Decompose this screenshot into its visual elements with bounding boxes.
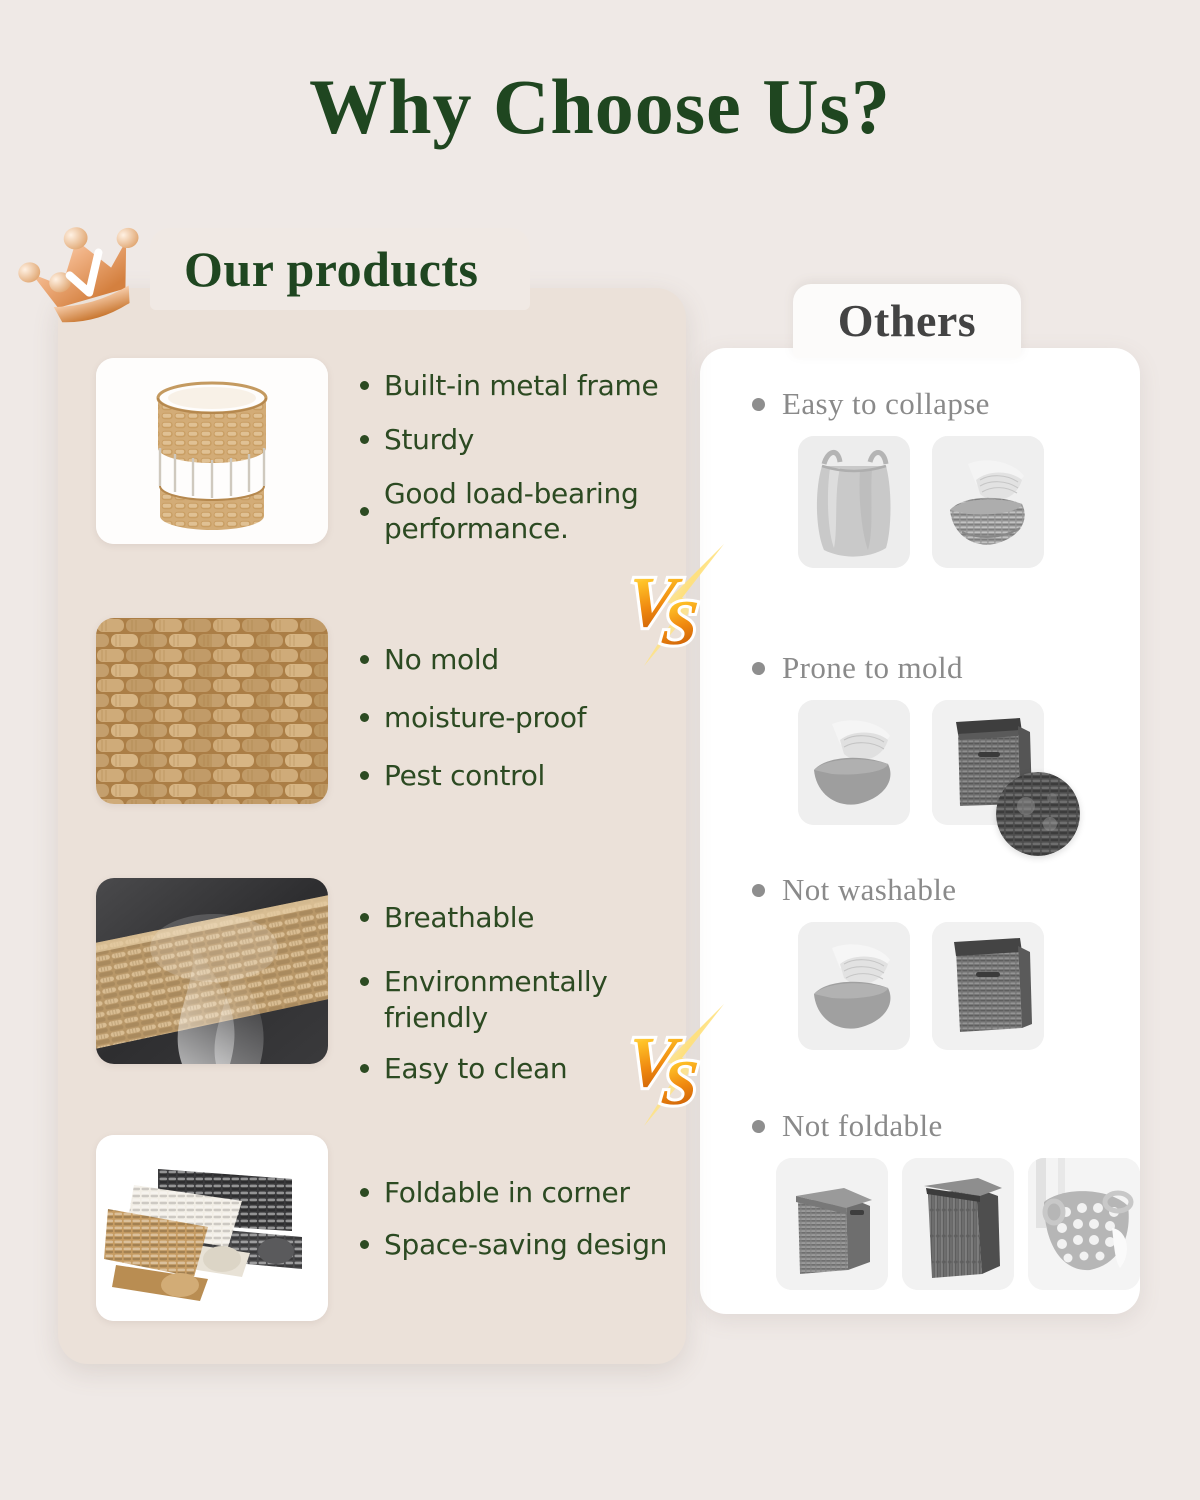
our-feature-row-1: Built-in metal frame Sturdy Good load-be… [96, 358, 680, 565]
list-item: Sturdy [360, 422, 680, 458]
bullet-text: Built-in metal frame [384, 368, 658, 404]
others-group-header: Easy to collapse [752, 386, 1044, 422]
bullet-dot-icon [752, 398, 765, 411]
bullet-text: No mold [384, 642, 499, 678]
breathable-weave-steam-photo [96, 878, 328, 1064]
bullet-text: Good load-bearing performance. [384, 476, 680, 548]
crown-icon [8, 212, 170, 332]
bullet-dot-icon [360, 655, 369, 664]
bullet-dot-icon [360, 507, 369, 516]
our-feature-row-4: Foldable in corner Space-saving design [96, 1135, 680, 1321]
list-item: Breathable [360, 900, 680, 936]
others-tab-label: Others [838, 294, 976, 347]
mold-spot-closeup-photo [996, 772, 1080, 856]
our-feature-row-3: Breathable Environmentally friendly Easy… [96, 878, 680, 1105]
bullet-dot-icon [360, 381, 369, 390]
others-group-images [776, 1158, 1140, 1290]
bullet-dot-icon [360, 1188, 369, 1197]
list-item: Good load-bearing performance. [360, 476, 680, 548]
bullet-dot-icon [752, 884, 765, 897]
bullet-dot-icon [360, 435, 369, 444]
grey-woven-hamper-photo [932, 922, 1044, 1050]
slumped-woven-basket-photo [798, 922, 910, 1050]
our-products-tab: Our products [150, 228, 530, 310]
bullet-text: Easy to clean [384, 1051, 567, 1087]
bullet-dot-icon [360, 913, 369, 922]
others-group-header: Not washable [752, 872, 1044, 908]
list-item: Foldable in corner [360, 1175, 680, 1211]
svg-text:S: S [659, 1047, 702, 1118]
others-group-header: Prone to mold [752, 650, 1044, 686]
others-group-label: Prone to mold [782, 650, 963, 686]
vs-badge-2: V S [626, 1000, 736, 1130]
bullet-text: Pest control [384, 758, 545, 794]
others-group-3: Not washable [752, 872, 1044, 1050]
slumped-woven-basket-photo [932, 436, 1044, 568]
bullet-text: Breathable [384, 900, 534, 936]
others-group-images [798, 922, 1044, 1050]
bullet-text: Foldable in corner [384, 1175, 630, 1211]
our-products-tab-label: Our products [184, 240, 479, 298]
list-item: Pest control [360, 758, 680, 794]
others-tab: Others [793, 284, 1021, 358]
bullet-text: Space-saving design [384, 1227, 667, 1263]
list-item: moisture-proof [360, 700, 680, 736]
others-group-label: Not foldable [782, 1108, 943, 1144]
bullet-text: moisture-proof [384, 700, 586, 736]
others-group-images [798, 436, 1044, 568]
vs-badge-1: V S [626, 540, 736, 670]
bullet-text: Sturdy [384, 422, 474, 458]
svg-text:S: S [659, 587, 702, 658]
lidded-woven-hamper-photo [776, 1158, 888, 1290]
our-feature-row-2: No mold moisture-proof Pest control [96, 618, 680, 811]
others-group-2: Prone to mold [752, 650, 1044, 825]
tall-woven-hamper-photo [902, 1158, 1014, 1290]
slumped-woven-basket-photo [798, 700, 910, 825]
our-feature-bullets-4: Foldable in corner Space-saving design [360, 1135, 680, 1281]
list-item: Space-saving design [360, 1227, 680, 1263]
bullet-dot-icon [360, 713, 369, 722]
bullet-dot-icon [360, 1240, 369, 1249]
list-item: Built-in metal frame [360, 368, 680, 404]
plastic-laundry-basket-photo [1028, 1158, 1140, 1290]
others-group-1: Easy to collapse [752, 386, 1044, 568]
others-group-header: Not foldable [752, 1108, 1140, 1144]
bullet-dot-icon [360, 771, 369, 780]
our-feature-bullets-1: Built-in metal frame Sturdy Good load-be… [360, 358, 680, 565]
round-woven-basket-metal-frame-photo [96, 358, 328, 544]
others-group-4: Not foldable [752, 1108, 1140, 1290]
bullet-dot-icon [360, 1064, 369, 1073]
bullet-dot-icon [752, 1120, 765, 1133]
others-group-images [798, 700, 1044, 825]
folded-flat-baskets-stack-photo [96, 1135, 328, 1321]
collapsed-fabric-hamper-photo [798, 436, 910, 568]
bullet-dot-icon [360, 977, 369, 986]
others-group-label: Easy to collapse [782, 386, 990, 422]
others-group-label: Not washable [782, 872, 956, 908]
bullet-dot-icon [752, 662, 765, 675]
woven-rattan-texture-closeup-photo [96, 618, 328, 804]
page-title: Why Choose Us? [0, 62, 1200, 152]
